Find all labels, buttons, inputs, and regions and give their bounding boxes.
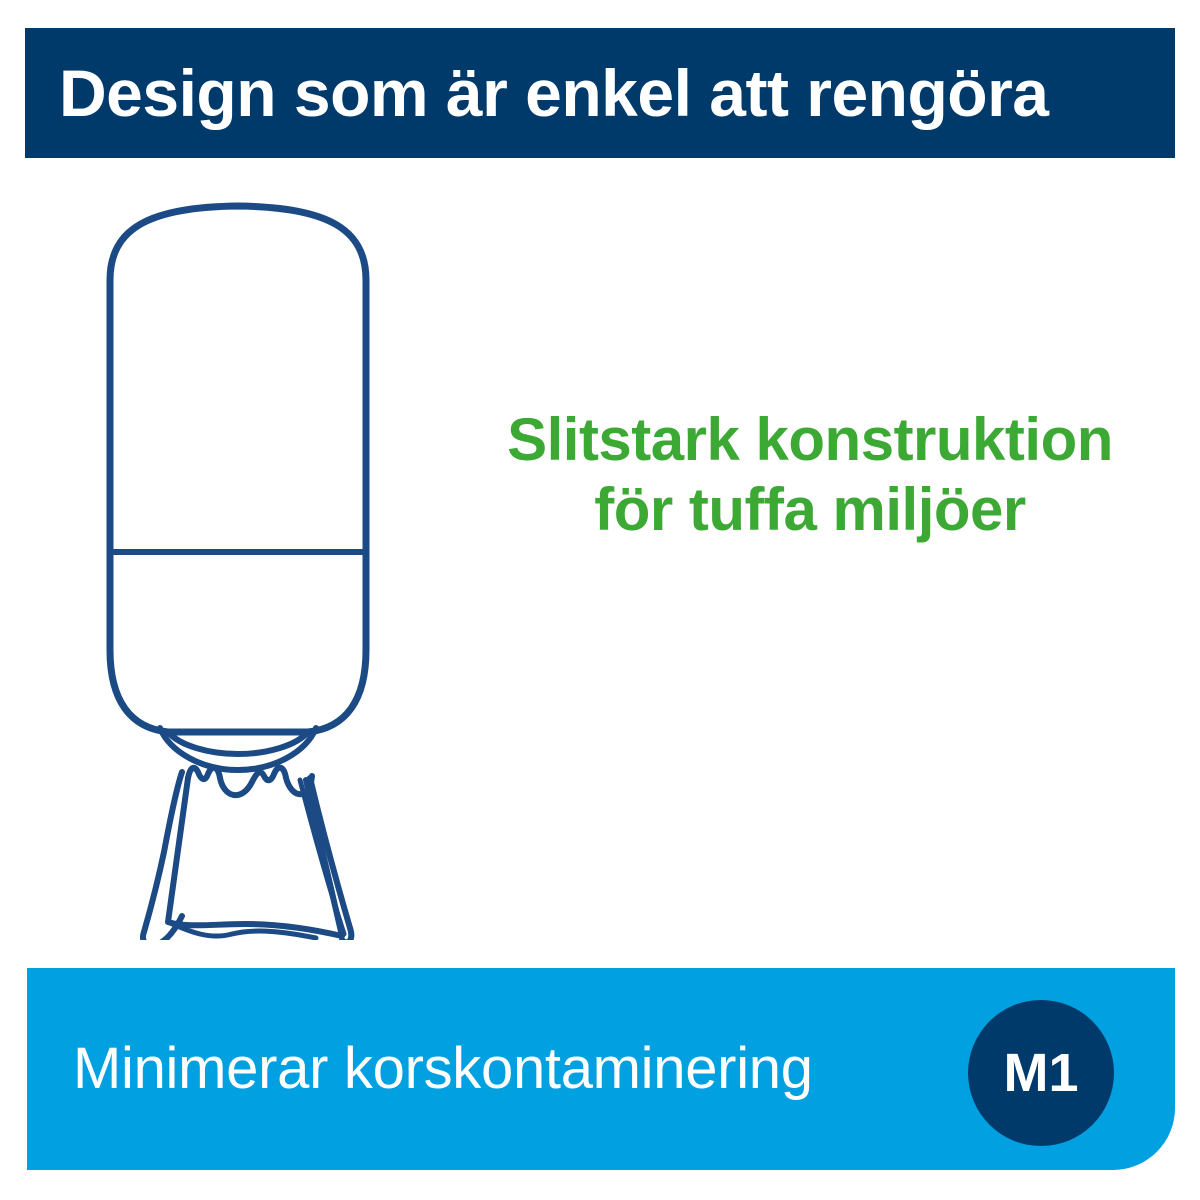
- green-headline-line-1: Slitstark konstruktion: [460, 405, 1160, 475]
- infographic-page: Design som är enkel att rengöra: [0, 0, 1200, 1200]
- m1-badge: M1: [968, 1000, 1114, 1146]
- green-headline-line-2: för tuffa miljöer: [460, 475, 1160, 545]
- dispenser-icon: [60, 180, 480, 940]
- m1-badge-label: M1: [1003, 1046, 1078, 1100]
- header-banner: Design som är enkel att rengöra: [25, 28, 1175, 158]
- footer-caption: Minimerar korskontaminering: [73, 1040, 813, 1098]
- green-headline: Slitstark konstruktion för tuffa miljöer: [460, 405, 1160, 545]
- page-title: Design som är enkel att rengöra: [59, 60, 1049, 126]
- dispenser-illustration: [60, 180, 480, 940]
